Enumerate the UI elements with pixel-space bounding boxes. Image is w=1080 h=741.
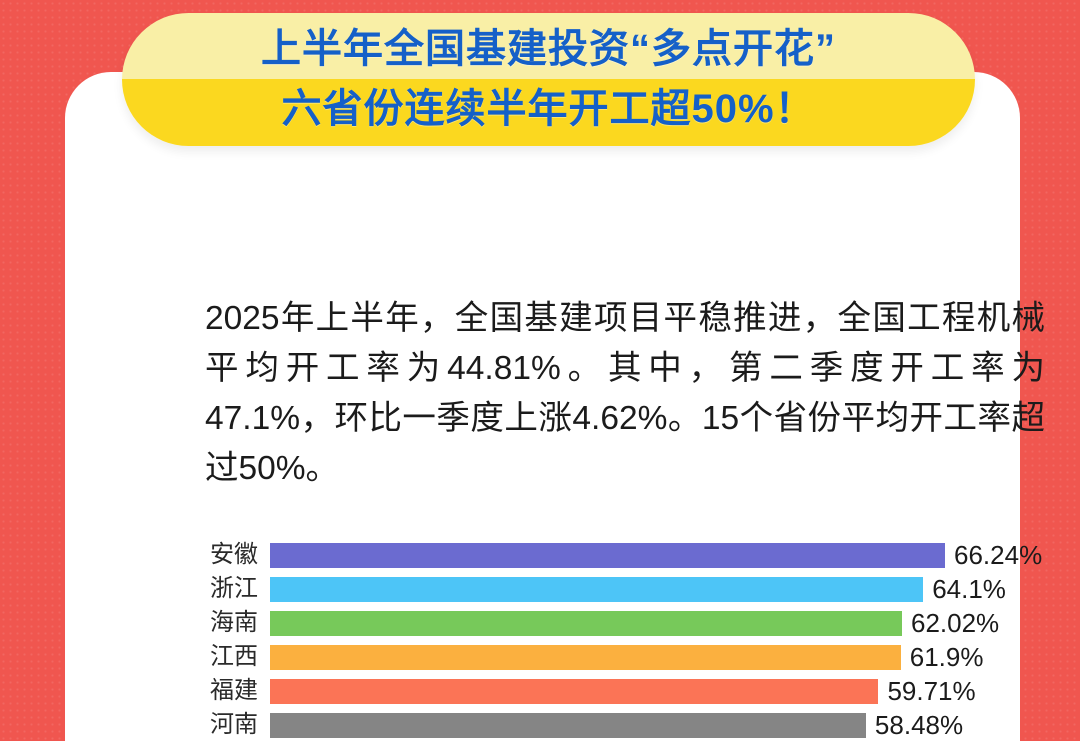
bar-track: 66.24% bbox=[270, 538, 1080, 572]
bar-fill bbox=[270, 611, 902, 636]
bar-track: 58.48% bbox=[270, 708, 1080, 741]
bar-fill bbox=[270, 679, 878, 704]
bar-track: 59.71% bbox=[270, 674, 1080, 708]
bar-fill bbox=[270, 543, 945, 568]
bar-value-label: 64.1% bbox=[932, 576, 1006, 602]
bar-row: 福建59.71% bbox=[65, 674, 1080, 708]
bar-value-label: 61.9% bbox=[910, 644, 984, 670]
bar-row: 河南58.48% bbox=[65, 708, 1080, 741]
headline-banner: 上半年全国基建投资“多点开花” 六省份连续半年开工超50%！ bbox=[122, 13, 975, 146]
bar-value-label: 58.48% bbox=[875, 712, 963, 738]
bar-category-label: 浙江 bbox=[65, 577, 270, 601]
bar-row: 海南62.02% bbox=[65, 606, 1080, 640]
bar-track: 64.1% bbox=[270, 572, 1080, 606]
bar-value-label: 62.02% bbox=[911, 610, 999, 636]
headline-line-1: 上半年全国基建投资“多点开花” bbox=[261, 20, 836, 79]
bar-fill bbox=[270, 577, 923, 602]
bar-row: 浙江64.1% bbox=[65, 572, 1080, 606]
bar-row: 安徽66.24% bbox=[65, 538, 1080, 572]
bar-category-label: 福建 bbox=[65, 679, 270, 703]
bar-row: 江西61.9% bbox=[65, 640, 1080, 674]
bar-category-label: 河南 bbox=[65, 713, 270, 737]
article-paragraph: 2025年上半年，全国基建项目平稳推进，全国工程机械平均开工率为44.81%。其… bbox=[205, 294, 1045, 494]
bar-value-label: 66.24% bbox=[954, 542, 1042, 568]
bar-value-label: 59.71% bbox=[887, 678, 975, 704]
bar-fill bbox=[270, 645, 901, 670]
content-card: 2025年上半年，全国基建项目平稳推进，全国工程机械平均开工率为44.81%。其… bbox=[65, 72, 1020, 741]
bar-category-label: 安徽 bbox=[65, 543, 270, 567]
bar-category-label: 江西 bbox=[65, 645, 270, 669]
bar-category-label: 海南 bbox=[65, 611, 270, 635]
bar-fill bbox=[270, 713, 866, 738]
bar-track: 62.02% bbox=[270, 606, 1080, 640]
headline-line-2: 六省份连续半年开工超50%！ bbox=[281, 80, 815, 139]
openrate-bar-chart: 安徽66.24%浙江64.1%海南62.02%江西61.9%福建59.71%河南… bbox=[65, 538, 1080, 741]
bar-track: 61.9% bbox=[270, 640, 1080, 674]
